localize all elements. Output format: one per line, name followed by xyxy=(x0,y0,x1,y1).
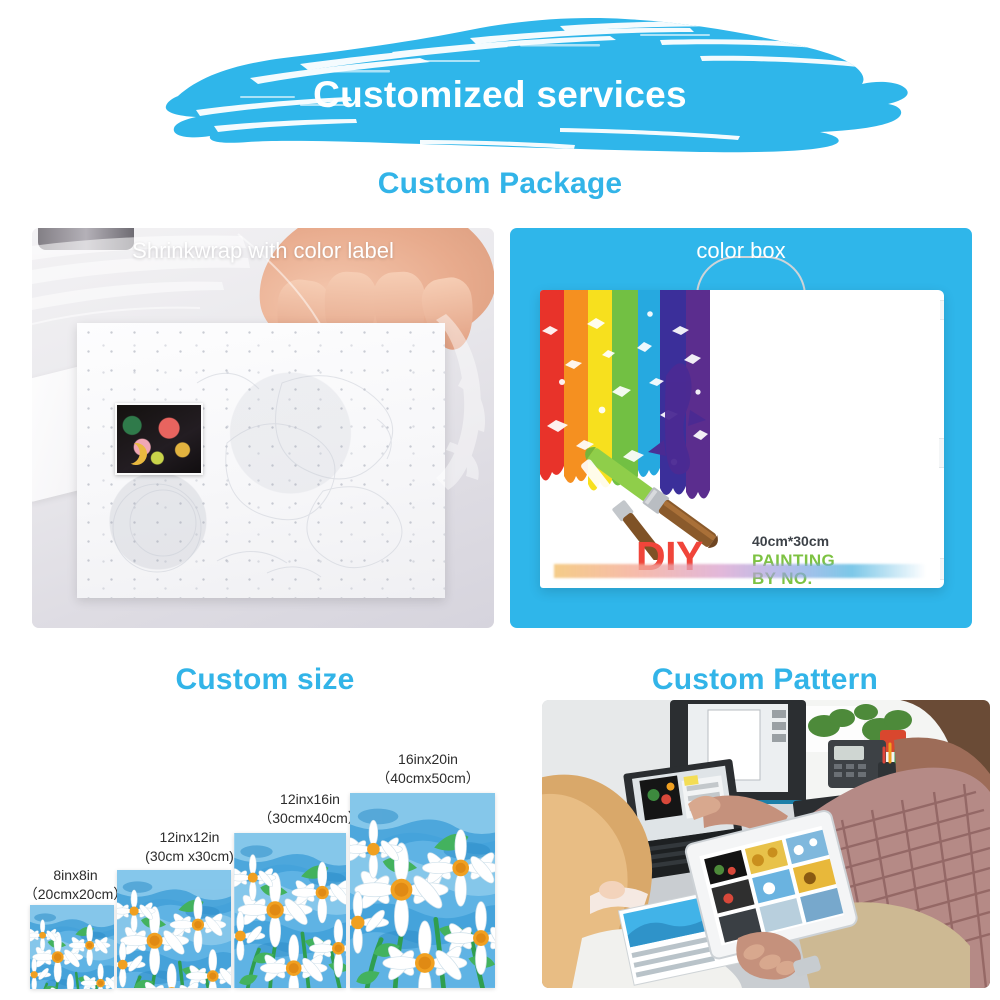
size-cm: （30cmx40cm） xyxy=(258,810,361,826)
banner-title: Customized services xyxy=(0,74,1000,116)
moon-icon xyxy=(121,439,150,468)
panel-shrinkwrap[interactable]: Shrinkwrap with color label xyxy=(32,228,494,628)
box-flap xyxy=(940,558,944,580)
blank-numbered-canvas xyxy=(77,323,445,598)
canvas-preview-16x20[interactable] xyxy=(350,793,495,988)
panel-color-box[interactable]: color box xyxy=(510,228,972,628)
size-inches: 8inx8in xyxy=(53,867,97,883)
size-cm: （40cmx50cm） xyxy=(376,770,479,786)
heading-custom-pattern: Custom Pattern xyxy=(540,663,990,697)
size-inches: 16inx20in xyxy=(398,751,458,767)
size-label-8x8: 8inx8in （20cmx20cm） xyxy=(18,866,133,904)
canvas-preview-12x12[interactable] xyxy=(117,870,231,988)
diy-painting-box: DIY 40cm*30cm PAINTING BY NO. It will be… xyxy=(540,290,944,588)
office-scene-illustration xyxy=(542,700,990,988)
custom-pattern-photo[interactable] xyxy=(542,700,990,988)
size-cm: (30cm x30cm) xyxy=(145,848,234,864)
panel-label-shrinkwrap: Shrinkwrap with color label xyxy=(32,238,494,264)
heading-custom-package: Custom Package xyxy=(0,167,1000,201)
canvas-preview-8x8[interactable] xyxy=(30,905,114,989)
heading-custom-size: Custom size xyxy=(55,663,475,697)
size-inches: 12inx12in xyxy=(160,829,220,845)
size-inches: 12inx16in xyxy=(280,791,340,807)
box-flap xyxy=(940,300,944,320)
color-gradient-bar xyxy=(554,564,926,578)
box-dimension-text: 40cm*30cm xyxy=(752,533,829,549)
box-flap xyxy=(939,438,944,468)
size-label-16x20: 16inx20in （40cmx50cm） xyxy=(348,750,508,788)
size-cm: （20cmx20cm） xyxy=(24,886,127,902)
page-banner: Customized services xyxy=(0,0,1000,160)
canvas-preview-12x16[interactable] xyxy=(234,833,346,988)
color-label-sticker xyxy=(115,403,203,475)
panel-label-color-box: color box xyxy=(510,238,972,264)
